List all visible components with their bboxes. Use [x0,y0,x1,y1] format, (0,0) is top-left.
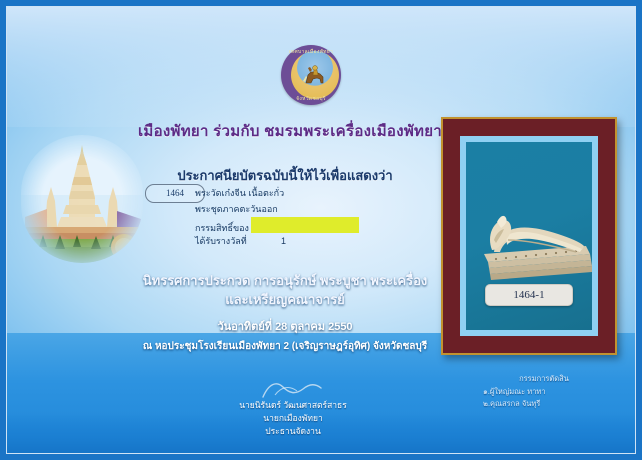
event-title: นิทรรศการประกวด การอนุรักษ์ พระบูชา พระเ… [115,271,455,309]
signer-role: ประธานจัดงาน [205,425,381,438]
amulet-photo-frame: 1464-1 [441,117,617,355]
handwritten-signature-icon [205,379,381,401]
seal-outer-ring: เทศบาลเมืองพัทยา จังหวัดชลบุรี [281,45,341,105]
award-label: ได้รับรางวัลที่ [195,236,247,246]
certificate-statement: ประกาศนียบัตรฉบับนี้ให้ไว้เพื่อแสดงว่า [135,165,435,186]
event-venue: ณ หอประชุมโรงเรียนเมืองพัทยา 2 (เจริญราษ… [95,339,475,354]
screenshot-canvas: เทศบาลเมืองพัทยา จังหวัดชลบุรี [0,0,642,460]
organizer-title: เมืองพัทยา ร่วมกับ ชมรมพระเครื่องเมืองพั… [125,119,455,143]
signature-block: นายนิรันดร์ วัฒนศาสตร์สาธร นายกเมืองพัทย… [205,399,381,438]
temple-pagoda-icon [21,135,143,263]
event-date: วันอาทิตย์ที่ 28 ตุลาคม 2550 [115,319,455,336]
horse-rider-icon [301,63,329,87]
judge-name-1: ๑.ผู้ใหญ่มณะ ทาทา [469,386,619,398]
amulet-photo: 1464-1 [466,142,592,330]
reclining-buddha-amulet-icon [478,200,592,284]
event-title-line1: นิทรรศการประกวด การอนุรักษ์ พระบูชา พระเ… [115,271,455,290]
award-value: 1 [281,233,286,249]
detail-owner-row: กรรมสิทธิ์ของ [195,217,425,233]
judges-block: กรรมการตัดสิน ๑.ผู้ใหญ่มณะ ทาทา ๒.คุณสรก… [469,373,619,410]
seal-top-text: เทศบาลเมืองพัทยา [281,48,341,56]
frame-mat: 1464-1 [443,119,615,353]
detail-category-line: พระชุดภาคตะวันออก [195,201,425,217]
event-title-line2: และเหรียญคณาจารย์ [115,290,455,309]
signer-position: นายกเมืองพัทยา [205,412,381,425]
seal-bottom-text: จังหวัดชลบุรี [281,95,341,103]
city-seal: เทศบาลเมืองพัทยา จังหวัดชลบุรี [277,45,345,105]
amulet-id-plaque: 1464-1 [485,284,573,306]
signer-name: นายนิรันดร์ วัฒนศาสตร์สาธร [205,399,381,412]
judge-name-2: ๒.คุณสรกล จันทุรี [469,398,619,410]
owner-label: กรรมสิทธิ์ของ [195,223,249,233]
owner-redaction-block [251,217,359,233]
temple-pagoda-image [21,135,143,263]
judges-title: กรรมการตัดสิน [469,373,619,385]
detail-item-line: พระวัดเก๋งจีน เนื้อตะกั่ว [195,185,425,201]
seal-inner-disc [291,51,339,99]
certificate-document: เทศบาลเมืองพัทยา จังหวัดชลบุรี [6,6,636,454]
detail-award-row: ได้รับรางวัลที่ 1 [195,233,425,249]
certificate-details: พระวัดเก๋งจีน เนื้อตะกั่ว พระชุดภาคตะวัน… [195,185,425,249]
